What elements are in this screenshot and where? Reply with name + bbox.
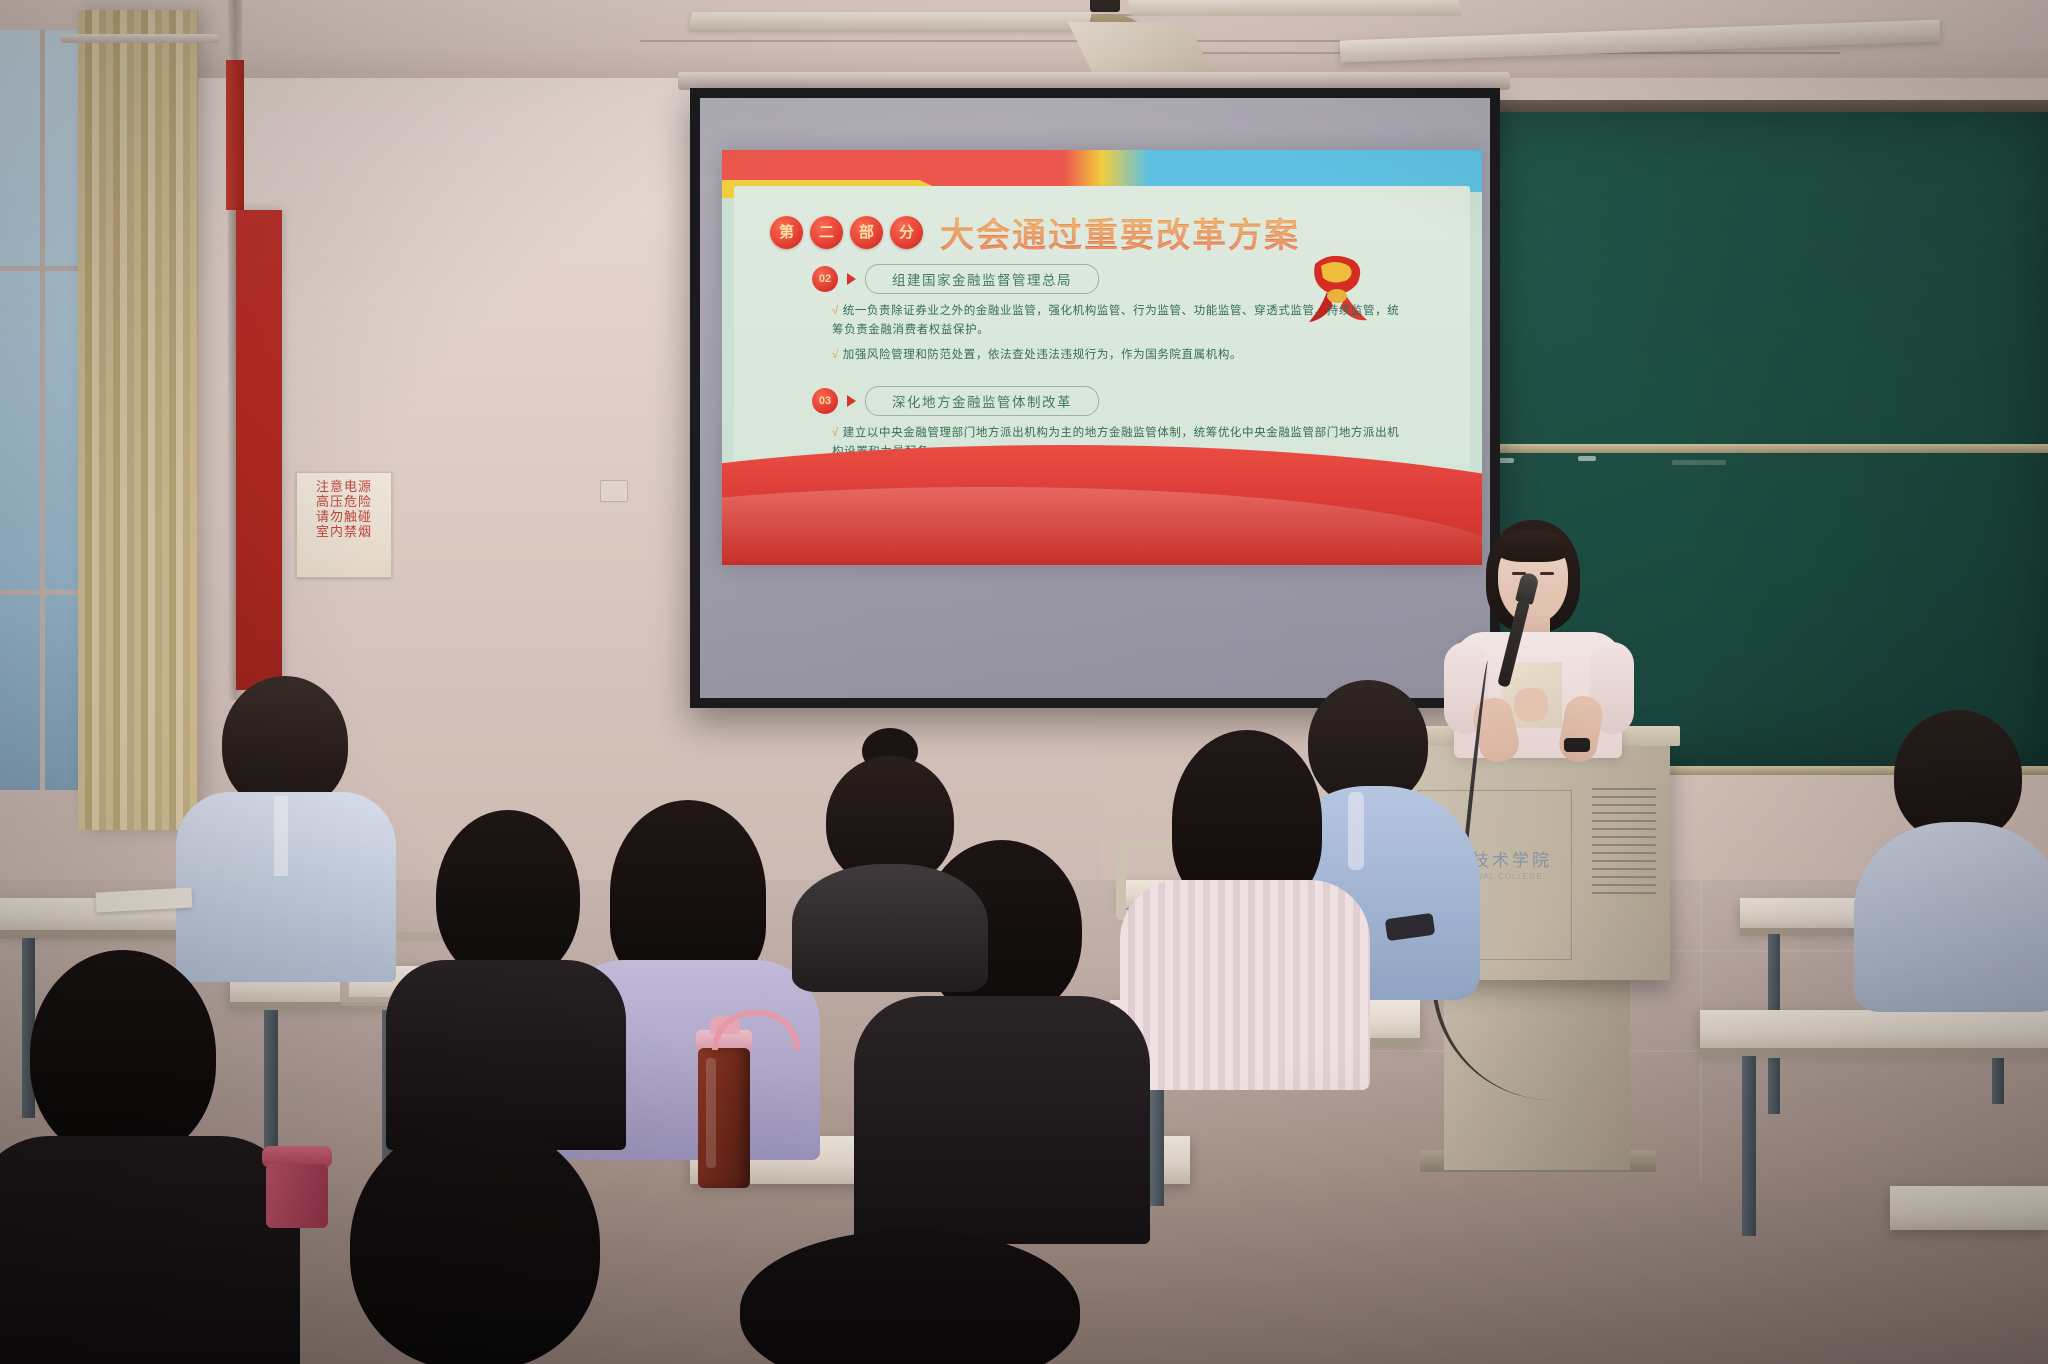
section-title: 深化地方金融监管体制改革 (865, 386, 1099, 416)
slide-bullet: 统一负责除证券业之外的金融业监管，强化机构监管、行为监管、功能监管、穿透式监管、… (832, 302, 1402, 340)
wall-outlet (600, 480, 628, 502)
red-banner (236, 210, 282, 690)
attendee-bun-hair (800, 728, 980, 988)
attendee-foreground-bottom (290, 1120, 690, 1364)
arrow-icon (847, 395, 856, 407)
presentation-slide: 第 二 部 分 大会通过重要改革方案 (722, 150, 1482, 565)
slide-title: 第 二 部 分 大会通过重要改革方案 (770, 208, 1300, 257)
presenter (1440, 520, 1640, 750)
wall-sign-line: 高压危险 (297, 494, 391, 509)
podium-text-panel (1592, 788, 1656, 900)
attendee-far-right (1860, 710, 2048, 1010)
title-badge: 第 (770, 216, 803, 249)
chalk-eraser (1672, 460, 1726, 465)
desk (1890, 1186, 2048, 1230)
attendee-mid-left-dark (390, 810, 620, 1140)
wall-sign-line: 注意电源 (297, 479, 391, 494)
wall-pipe-red-section (226, 60, 244, 210)
section-number: 03 (812, 388, 838, 414)
title-badge: 分 (890, 216, 923, 249)
fan-blade (1068, 22, 1212, 72)
section-number: 02 (812, 266, 838, 292)
pink-cup (262, 1146, 332, 1228)
wall-sign-line: 室内禁烟 (297, 524, 391, 539)
wall-sign-line: 请勿触碰 (297, 509, 391, 524)
section-title: 组建国家金融监督管理总局 (865, 264, 1099, 294)
attendee-foreground-left (0, 950, 280, 1364)
desk-leg (1742, 1056, 1756, 1236)
classroom-scene: 注意电源 高压危险 请勿触碰 室内禁烟 第 二 部 分 (0, 0, 2048, 1364)
blackboard-chalk-rail (1452, 444, 2048, 453)
water-bottle (690, 1030, 758, 1190)
slide-title-text: 大会通过重要改革方案 (940, 208, 1300, 257)
title-badge: 部 (850, 216, 883, 249)
attendee-far-left-dark (700, 1230, 1120, 1364)
slide-bullet: 加强风险管理和防范处置，依法查处违法违规行为，作为国务院直属机构。 (832, 346, 1402, 365)
presenter-watch (1564, 738, 1590, 752)
wall-safety-sign: 注意电源 高压危险 请勿触碰 室内禁烟 (296, 472, 392, 578)
attendee-pink-knit (1120, 730, 1370, 1080)
curtain-rod (60, 34, 220, 43)
attendee-blue-shirt-left (180, 676, 390, 976)
projection-screen: 第 二 部 分 大会通过重要改革方案 (690, 88, 1500, 708)
chalk-piece (1578, 456, 1596, 461)
desk (1700, 1010, 2048, 1050)
arrow-icon (847, 273, 856, 285)
screen-surface: 第 二 部 分 大会通过重要改革方案 (700, 98, 1490, 698)
fan-blade (688, 12, 1092, 30)
fan-blade (1128, 0, 1462, 16)
slide-section-heading: 02 组建国家金融监督管理总局 (812, 264, 1099, 294)
window (0, 30, 89, 790)
slide-section-heading: 03 深化地方金融监管体制改革 (812, 386, 1099, 416)
title-badge: 二 (810, 216, 843, 249)
